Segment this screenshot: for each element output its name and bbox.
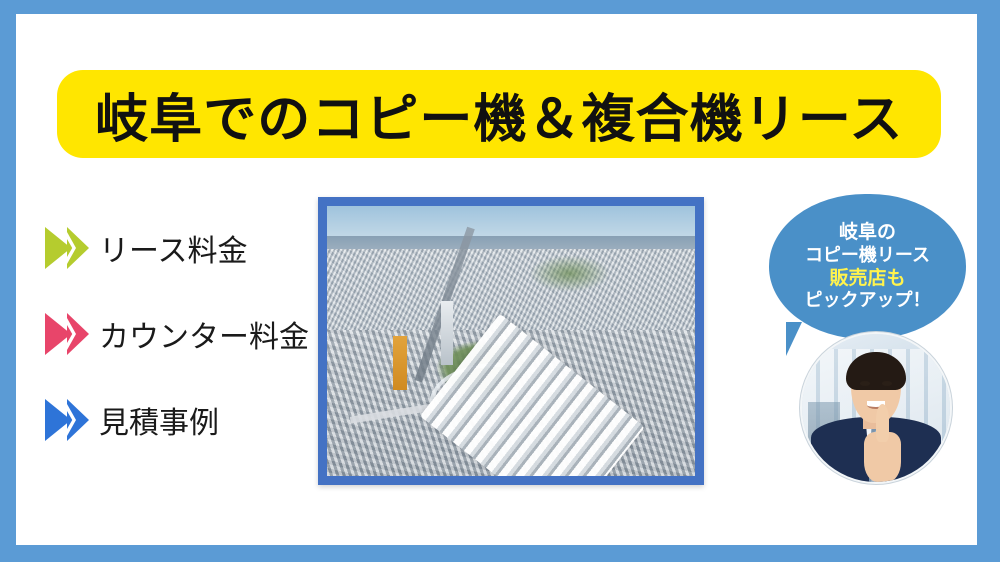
bubble-line-1: 岐阜の [839, 221, 896, 243]
avatar [800, 332, 952, 484]
title-banner: 岐阜でのコピー機＆複合機リース [57, 70, 941, 158]
speech-bubble-tail [786, 322, 802, 356]
city-photo-frame [318, 197, 704, 485]
page-title: 岐阜でのコピー機＆複合機リース [95, 77, 903, 152]
double-chevron-right-icon [45, 399, 97, 441]
list-item[interactable]: 見積事例 [45, 377, 325, 463]
bullet-label-lease-fee: リース料金 [99, 226, 248, 270]
bullet-label-counter-fee: カウンター料金 [99, 312, 309, 356]
speech-bubble: 岐阜の コピー機リース 販売店も ピックアップ！ [769, 194, 966, 339]
bubble-line-2: コピー機リース [805, 245, 930, 266]
slide-canvas: 岐阜でのコピー機＆複合機リース リース料金 カウンター料金 見積事例 [0, 0, 1000, 562]
bubble-line-4: ピックアップ！ [805, 290, 931, 311]
bullet-label-quote-example: 見積事例 [99, 398, 219, 442]
city-aerial-photo [327, 206, 695, 476]
speech-bubble-text: 岐阜の コピー機リース 販売店も ピックアップ！ [769, 194, 966, 339]
list-item[interactable]: リース料金 [45, 205, 325, 291]
double-chevron-right-icon [45, 313, 97, 355]
bullet-list: リース料金 カウンター料金 見積事例 [45, 205, 325, 463]
list-item[interactable]: カウンター料金 [45, 291, 325, 377]
bubble-line-3-highlight: 販売店も [829, 267, 905, 289]
avatar-pointing-finger [876, 404, 889, 442]
double-chevron-right-icon [45, 227, 97, 269]
